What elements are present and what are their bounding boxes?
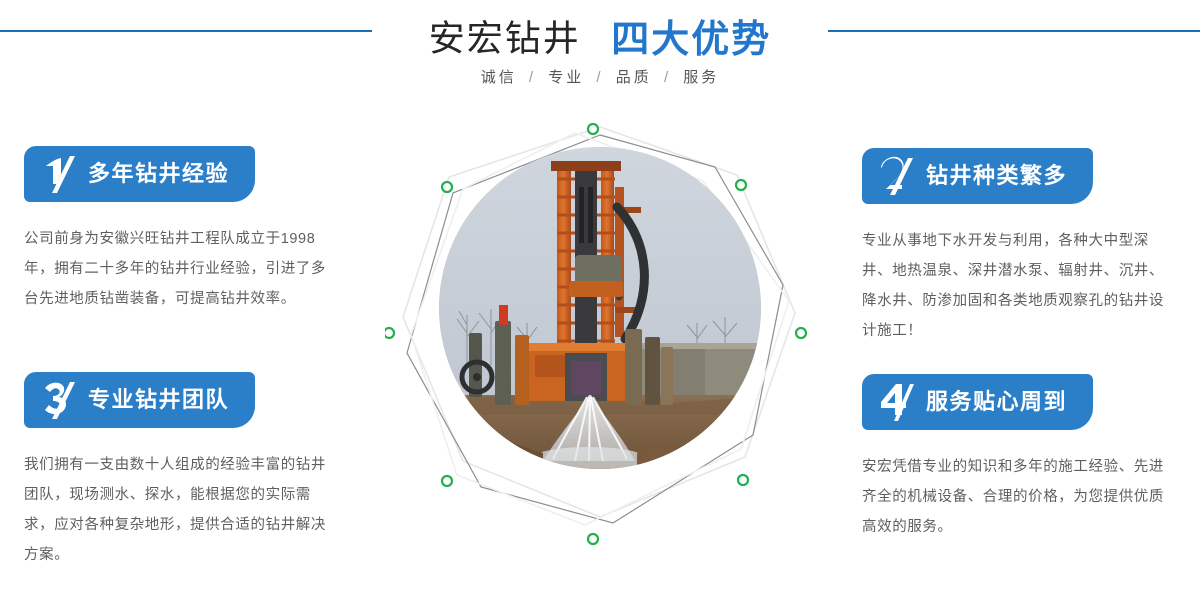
subtitle-separator-2: /	[664, 69, 671, 86]
center-artwork	[385, 105, 815, 575]
feature-block-2: 钻井种类繁多 专业从事地下水开发与利用，各种大中型深井、地热温泉、深井潜水泵、辐…	[862, 148, 1182, 347]
page-title-company: 安宏钻井	[429, 18, 581, 59]
marker-top	[588, 124, 598, 134]
number-four-icon	[878, 381, 918, 423]
promo-page: 安宏钻井 四大优势 诚信 / 专业 / 品质 / 服务	[0, 0, 1200, 600]
page-title-accent: 四大优势	[611, 19, 771, 61]
page-subtitle: 诚信 / 专业 / 品质 / 服务	[0, 66, 1200, 87]
subtitle-separator-1: /	[596, 69, 603, 86]
number-one-icon	[40, 153, 80, 195]
subtitle-item-0: 诚信	[481, 69, 517, 86]
marker-left	[385, 328, 394, 338]
feature-badge-1[interactable]: 多年钻井经验	[24, 146, 255, 202]
drilling-rig-illustration	[439, 147, 761, 469]
marker-bottom	[588, 534, 598, 544]
drilling-rig-photo	[439, 147, 761, 469]
feature-text-2: 专业从事地下水开发与利用，各种大中型深井、地热温泉、深井潜水泵、辐射井、沉井、降…	[862, 226, 1174, 347]
feature-block-1: 多年钻井经验 公司前身为安徽兴旺钻井工程队成立于1998年，拥有二十多年的钻井行…	[24, 146, 344, 314]
feature-badge-2[interactable]: 钻井种类繁多	[862, 148, 1093, 204]
subtitle-item-3: 服务	[683, 69, 719, 86]
page-title: 安宏钻井 四大优势	[0, 8, 1200, 63]
subtitle-separator-0: /	[529, 69, 536, 86]
subtitle-item-2: 品质	[616, 69, 652, 86]
number-two-icon	[878, 155, 918, 197]
feature-title-4: 服务贴心周到	[926, 391, 1067, 413]
page-header: 安宏钻井 四大优势 诚信 / 专业 / 品质 / 服务	[0, 0, 1200, 110]
feature-block-3: 专业钻井团队 我们拥有一支由数十人组成的经验丰富的钻井团队，现场测水、探水，能根…	[24, 372, 344, 571]
marker-bottom-left	[442, 476, 452, 486]
number-three-icon	[40, 379, 80, 421]
marker-right	[796, 328, 806, 338]
feature-title-1: 多年钻井经验	[88, 163, 229, 185]
feature-block-4: 服务贴心周到 安宏凭借专业的知识和多年的施工经验、先进齐全的机械设备、合理的价格…	[862, 374, 1182, 542]
feature-title-3: 专业钻井团队	[88, 389, 229, 411]
feature-text-3: 我们拥有一支由数十人组成的经验丰富的钻井团队，现场测水、探水，能根据您的实际需求…	[24, 450, 336, 571]
feature-text-1: 公司前身为安徽兴旺钻井工程队成立于1998年，拥有二十多年的钻井行业经验，引进了…	[24, 224, 336, 314]
subtitle-item-1: 专业	[548, 69, 584, 86]
feature-badge-3[interactable]: 专业钻井团队	[24, 372, 255, 428]
feature-title-2: 钻井种类繁多	[926, 165, 1067, 187]
feature-badge-4[interactable]: 服务贴心周到	[862, 374, 1093, 430]
marker-bottom-right	[738, 475, 748, 485]
feature-text-4: 安宏凭借专业的知识和多年的施工经验、先进齐全的机械设备、合理的价格，为您提供优质…	[862, 452, 1174, 542]
